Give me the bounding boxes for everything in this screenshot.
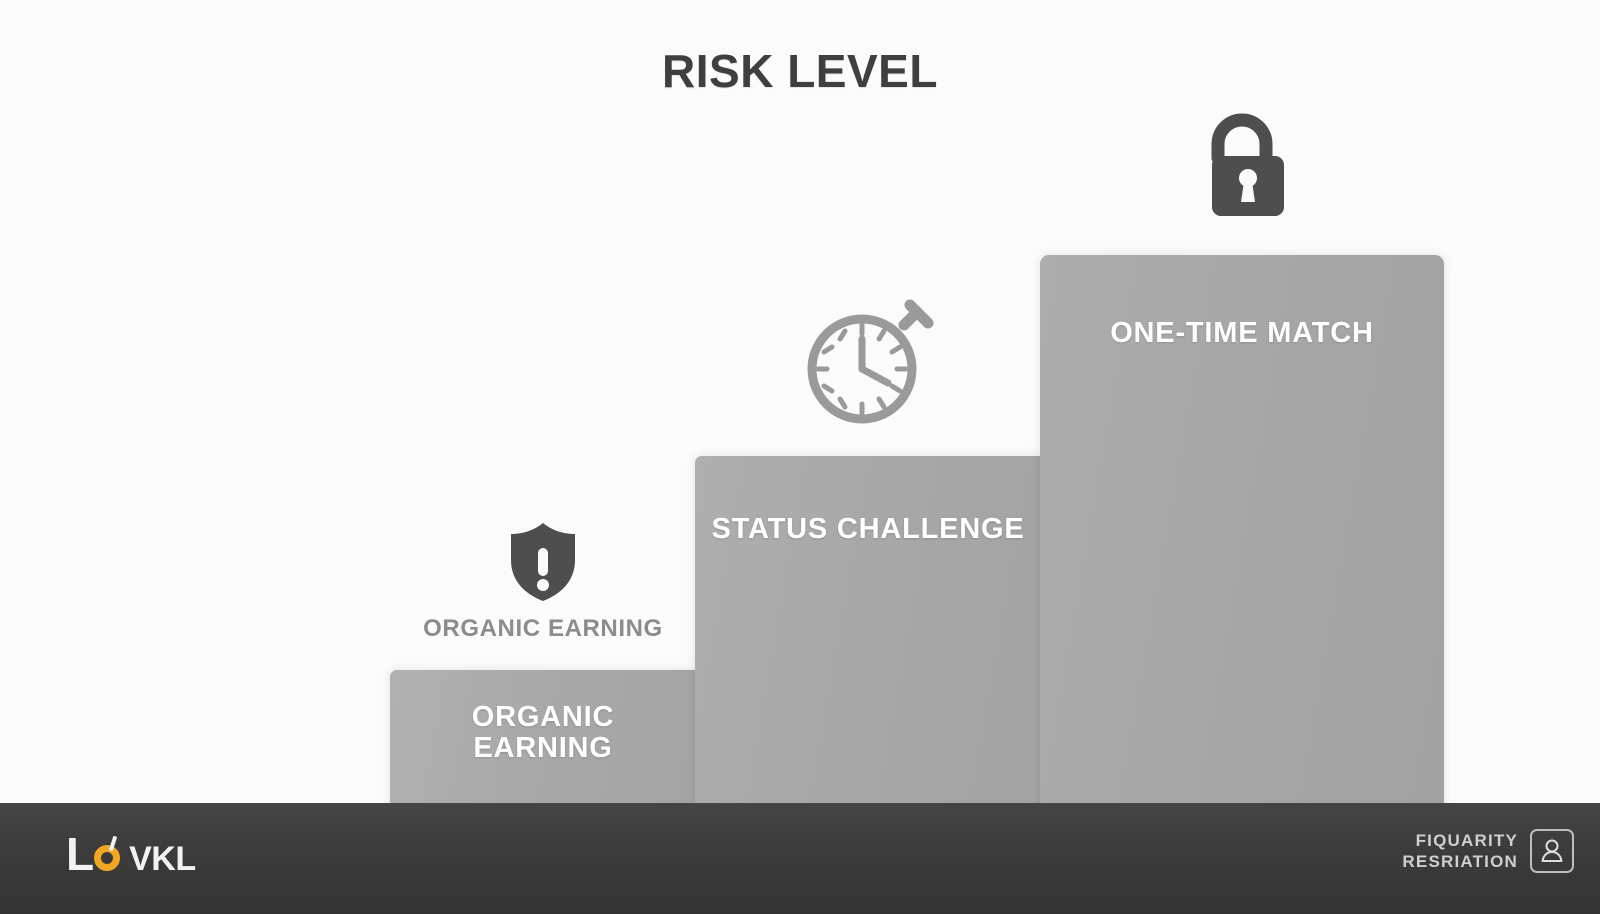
icon-group-status-challenge — [695, 295, 1041, 438]
page-title: RISK LEVEL — [0, 44, 1600, 98]
shield-exclamation-icon — [506, 591, 580, 608]
bar-label-organic-earning: ORGANIC EARNING — [390, 702, 696, 764]
footer-caption-line-1: FIQUARITY — [1402, 830, 1518, 851]
icon-group-organic-earning: ORGANIC EARNING — [390, 520, 696, 643]
bar-label-status-challenge: STATUS CHALLENGE — [695, 514, 1041, 545]
unlocked-padlock-icon — [1194, 207, 1290, 224]
bar-one-time-match[interactable]: ONE-TIME MATCH — [1040, 255, 1444, 830]
bar-label-one-time-match: ONE-TIME MATCH — [1040, 318, 1444, 349]
footer-bar: L VKL FIQUARITY RESRIATION — [0, 803, 1600, 914]
user-avatar-icon[interactable] — [1530, 829, 1574, 873]
brand-logo[interactable]: L VKL — [66, 831, 196, 881]
footer-caption-line-2: RESRIATION — [1402, 851, 1518, 872]
brand-logo-rest: VKL — [129, 842, 196, 876]
icon-group-one-time-match — [1040, 108, 1444, 231]
brand-logo-first-letter: L — [66, 831, 93, 877]
footer-caption: FIQUARITY RESRIATION — [1402, 830, 1518, 873]
icon-caption-organic-earning: ORGANIC EARNING — [390, 615, 696, 643]
stopwatch-icon — [800, 414, 936, 431]
footer-right-group: FIQUARITY RESRIATION — [1402, 829, 1574, 873]
brand-logo-o-ring — [94, 845, 120, 871]
poster-canvas: RISK LEVEL ORGANIC EARNING ORGANIC EARNI… — [0, 0, 1600, 914]
bar-status-challenge[interactable]: STATUS CHALLENGE — [695, 456, 1041, 830]
brand-logo-o-mark — [94, 845, 128, 879]
